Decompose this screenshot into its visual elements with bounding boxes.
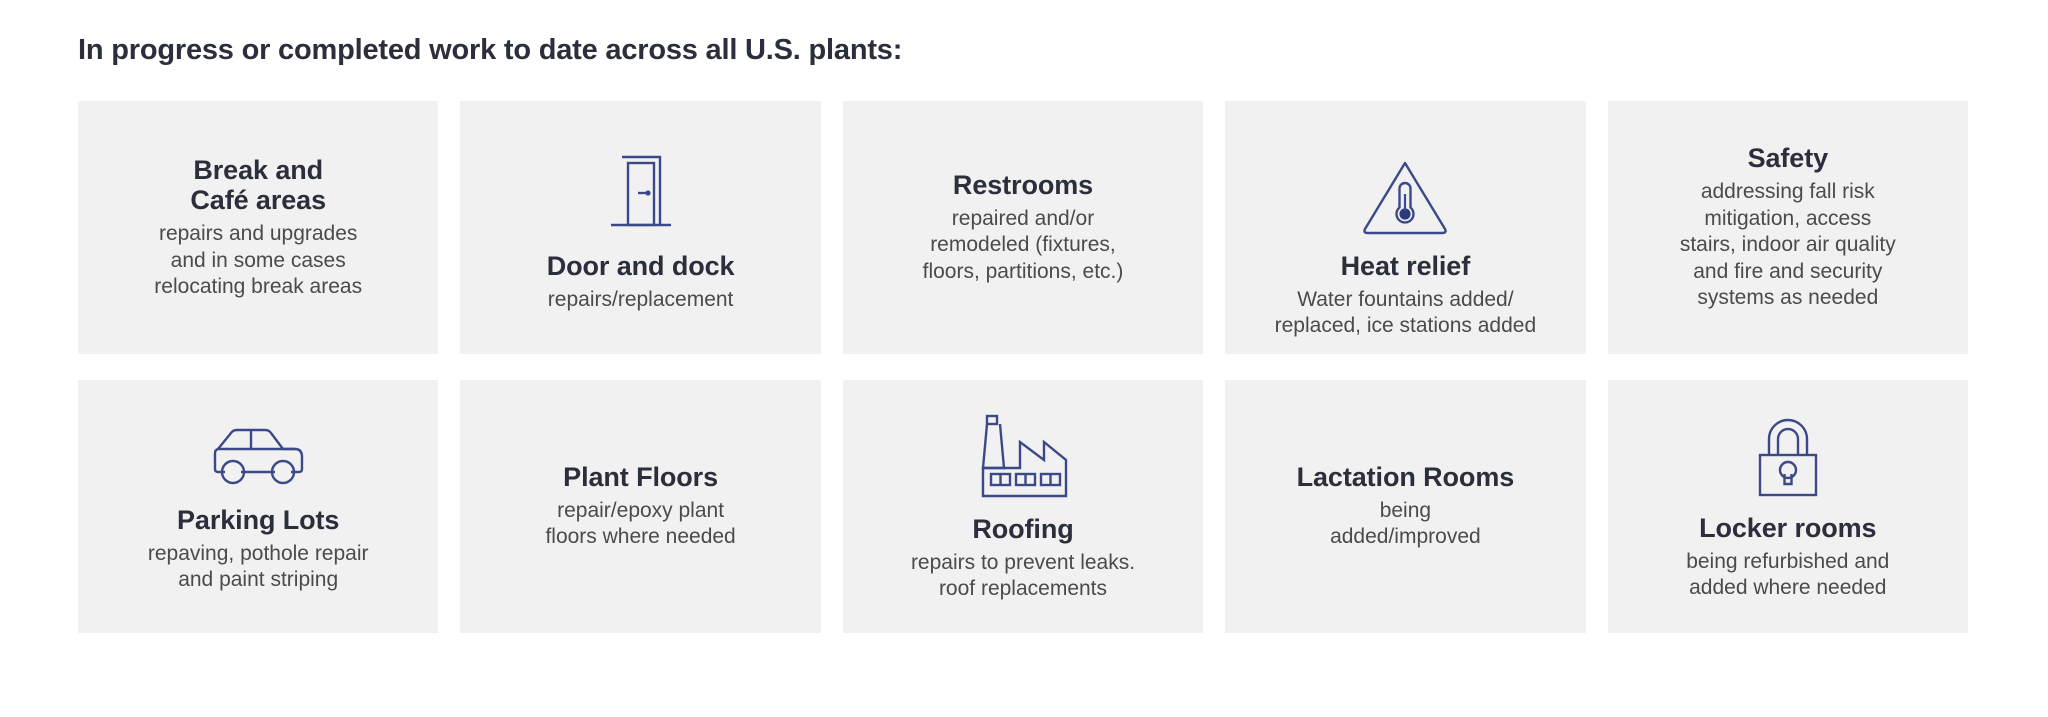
card-content: Restrooms repaired and/or remodeled (fix…	[857, 170, 1189, 285]
card-description: repaired and/or remodeled (fixtures, flo…	[923, 206, 1124, 285]
card-heat-relief[interactable]: Heat relief Water fountains added/ repla…	[1225, 101, 1585, 354]
card-description: being added/improved	[1330, 498, 1481, 551]
initiatives-grid: Break and Café areas repairs and upgrade…	[78, 101, 1968, 633]
card-title: Locker rooms	[1699, 513, 1876, 544]
card-description: repairs/replacement	[548, 287, 734, 313]
card-description: being refurbished and added where needed	[1686, 549, 1889, 602]
card-description: repaving, pothole repair and paint strip…	[148, 541, 369, 594]
factory-icon	[974, 410, 1072, 504]
card-description: Water fountains added/ replaced, ice sta…	[1275, 287, 1537, 340]
card-title: Roofing	[972, 514, 1073, 545]
card-title: Safety	[1748, 143, 1828, 174]
slide-root: In progress or completed work to date ac…	[0, 0, 2048, 717]
card-parking-lots[interactable]: Parking Lots repaving, pothole repair an…	[78, 380, 438, 633]
card-description: addressing fall risk mitigation, access …	[1680, 179, 1896, 311]
card-content: Locker rooms being refurbished and added…	[1622, 411, 1954, 602]
card-content: Plant Floors repair/epoxy plant floors w…	[474, 462, 806, 551]
card-content: Safety addressing fall risk mitigation, …	[1622, 143, 1954, 311]
card-locker-rooms[interactable]: Locker rooms being refurbished and added…	[1608, 380, 1968, 633]
car-icon	[203, 419, 313, 495]
card-title: Lactation Rooms	[1297, 462, 1515, 493]
card-description: repair/epoxy plant floors where needed	[545, 498, 735, 551]
card-description: repairs to prevent leaks. roof replaceme…	[911, 550, 1135, 603]
card-title: Break and Café areas	[190, 155, 326, 217]
card-lactation-rooms[interactable]: Lactation Rooms being added/improved	[1225, 380, 1585, 633]
card-plant-floors[interactable]: Plant Floors repair/epoxy plant floors w…	[460, 380, 820, 633]
lock-icon	[1742, 411, 1834, 503]
card-door-and-dock[interactable]: Door and dock repairs/replacement	[460, 101, 820, 354]
card-content: Heat relief Water fountains added/ repla…	[1239, 149, 1571, 340]
card-content: Lactation Rooms being added/improved	[1239, 462, 1571, 551]
card-break-and-cafe-areas[interactable]: Break and Café areas repairs and upgrade…	[78, 101, 438, 354]
card-title: Heat relief	[1341, 251, 1470, 282]
card-description: repairs and upgrades and in some cases r…	[154, 221, 362, 300]
thermometer-warning-icon	[1353, 149, 1457, 241]
card-content: Parking Lots repaving, pothole repair an…	[92, 419, 424, 594]
card-content: Roofing repairs to prevent leaks. roof r…	[857, 410, 1189, 603]
card-content: Door and dock repairs/replacement	[474, 141, 806, 313]
page-title: In progress or completed work to date ac…	[78, 34, 902, 67]
card-safety[interactable]: Safety addressing fall risk mitigation, …	[1608, 101, 1968, 354]
card-title: Door and dock	[547, 251, 735, 282]
card-content: Break and Café areas repairs and upgrade…	[92, 155, 424, 301]
door-icon	[591, 141, 691, 241]
card-roofing[interactable]: Roofing repairs to prevent leaks. roof r…	[843, 380, 1203, 633]
card-restrooms[interactable]: Restrooms repaired and/or remodeled (fix…	[843, 101, 1203, 354]
card-title: Restrooms	[953, 170, 1093, 201]
card-title: Plant Floors	[563, 462, 718, 493]
card-title: Parking Lots	[177, 505, 339, 536]
